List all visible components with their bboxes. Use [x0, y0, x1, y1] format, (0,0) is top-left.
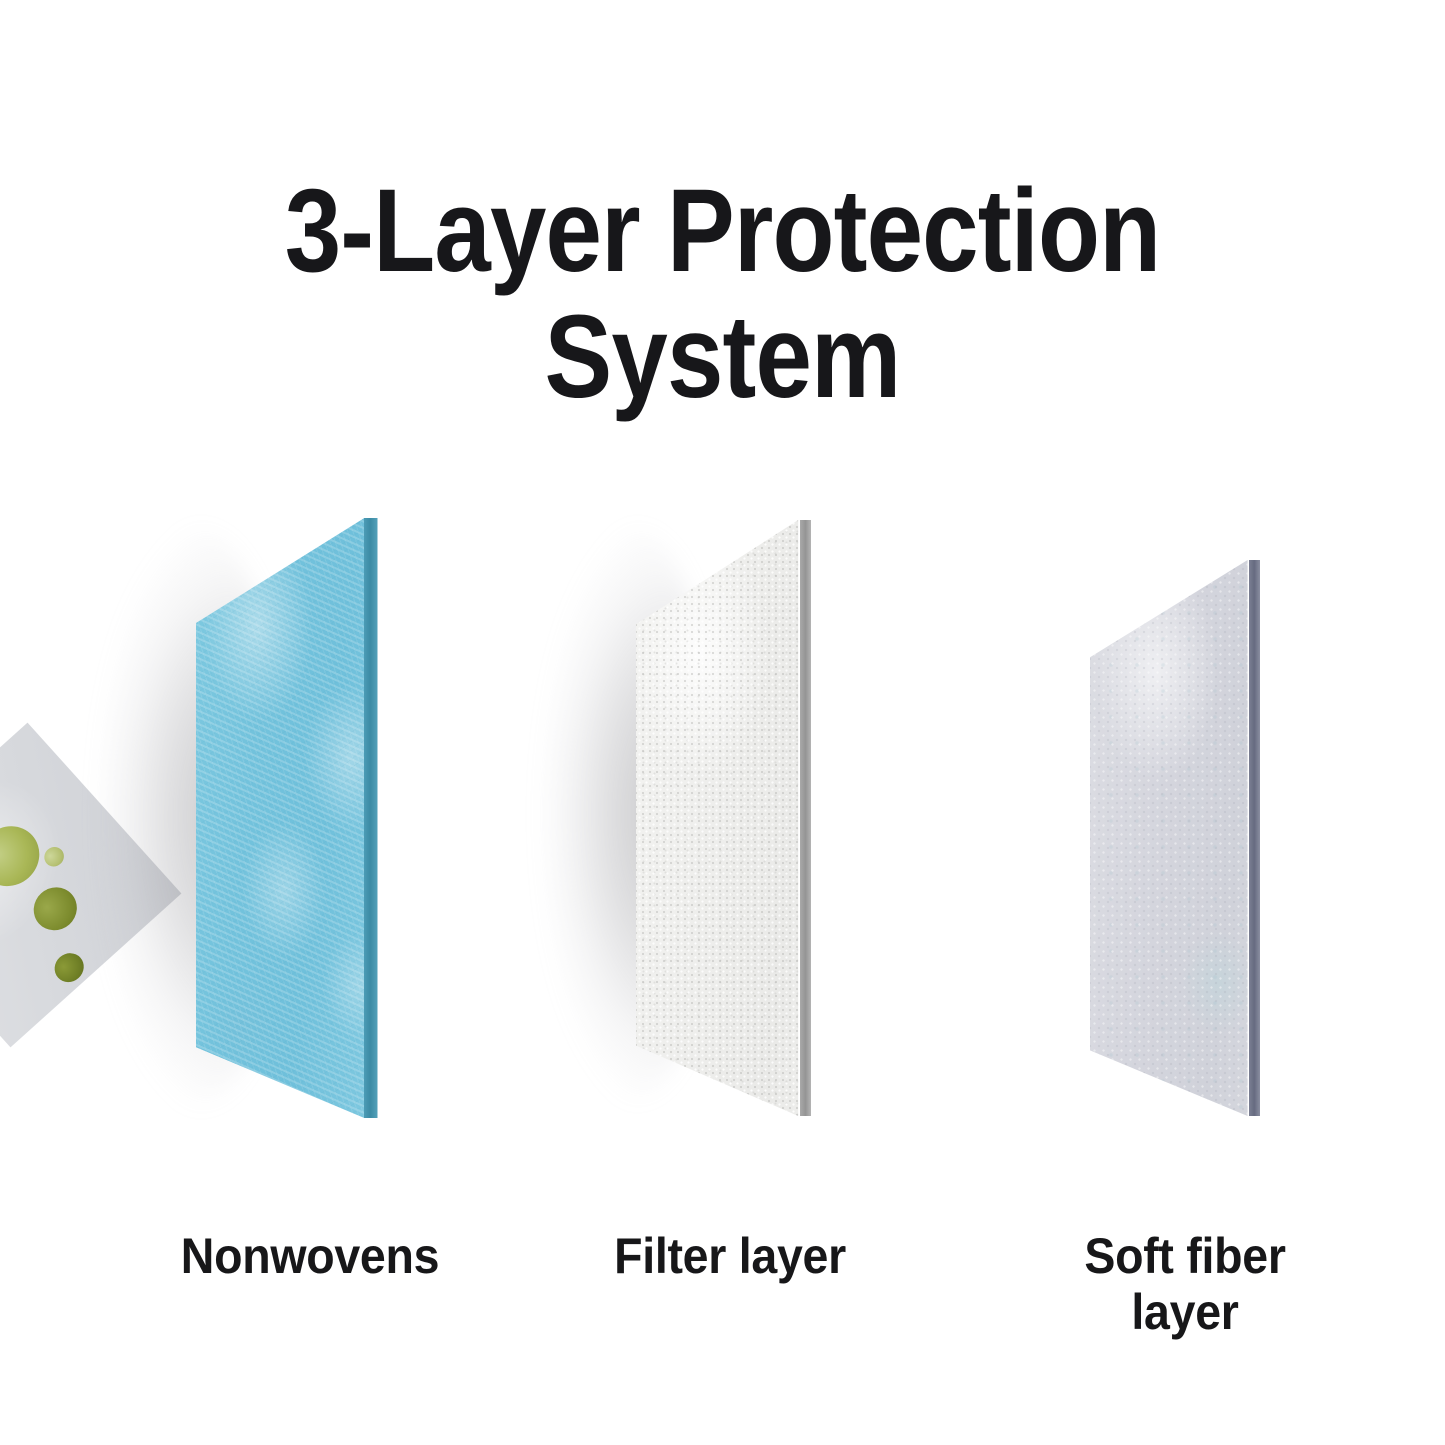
slab-edge — [364, 518, 378, 1118]
germ-particle — [49, 947, 90, 988]
page-title: 3-Layer Protection System — [101, 168, 1344, 421]
slab-texture — [1090, 560, 1296, 1116]
germ-particle — [25, 879, 86, 940]
layer-label-filter: Filter layer — [535, 1228, 926, 1284]
diagram-canvas: 3-Layer Protection System Nonwo — [0, 0, 1445, 1445]
slab-edge — [1249, 560, 1260, 1116]
layer-panel-filter — [636, 520, 848, 1116]
slab-nonwovens — [196, 518, 416, 1118]
slab-texture — [636, 520, 848, 1116]
slab-texture — [196, 518, 416, 1118]
layer-panel-soft-fiber — [1090, 560, 1296, 1116]
slab-edge — [800, 520, 811, 1116]
germ-particle — [40, 843, 68, 871]
layer-panel-nonwovens — [196, 518, 416, 1118]
layer-label-nonwovens: Nonwovens — [115, 1228, 506, 1284]
layer-label-soft-fiber: Soft fiber layer — [990, 1228, 1381, 1340]
slab-soft-fiber — [1090, 560, 1296, 1116]
slab-filter — [636, 520, 848, 1116]
